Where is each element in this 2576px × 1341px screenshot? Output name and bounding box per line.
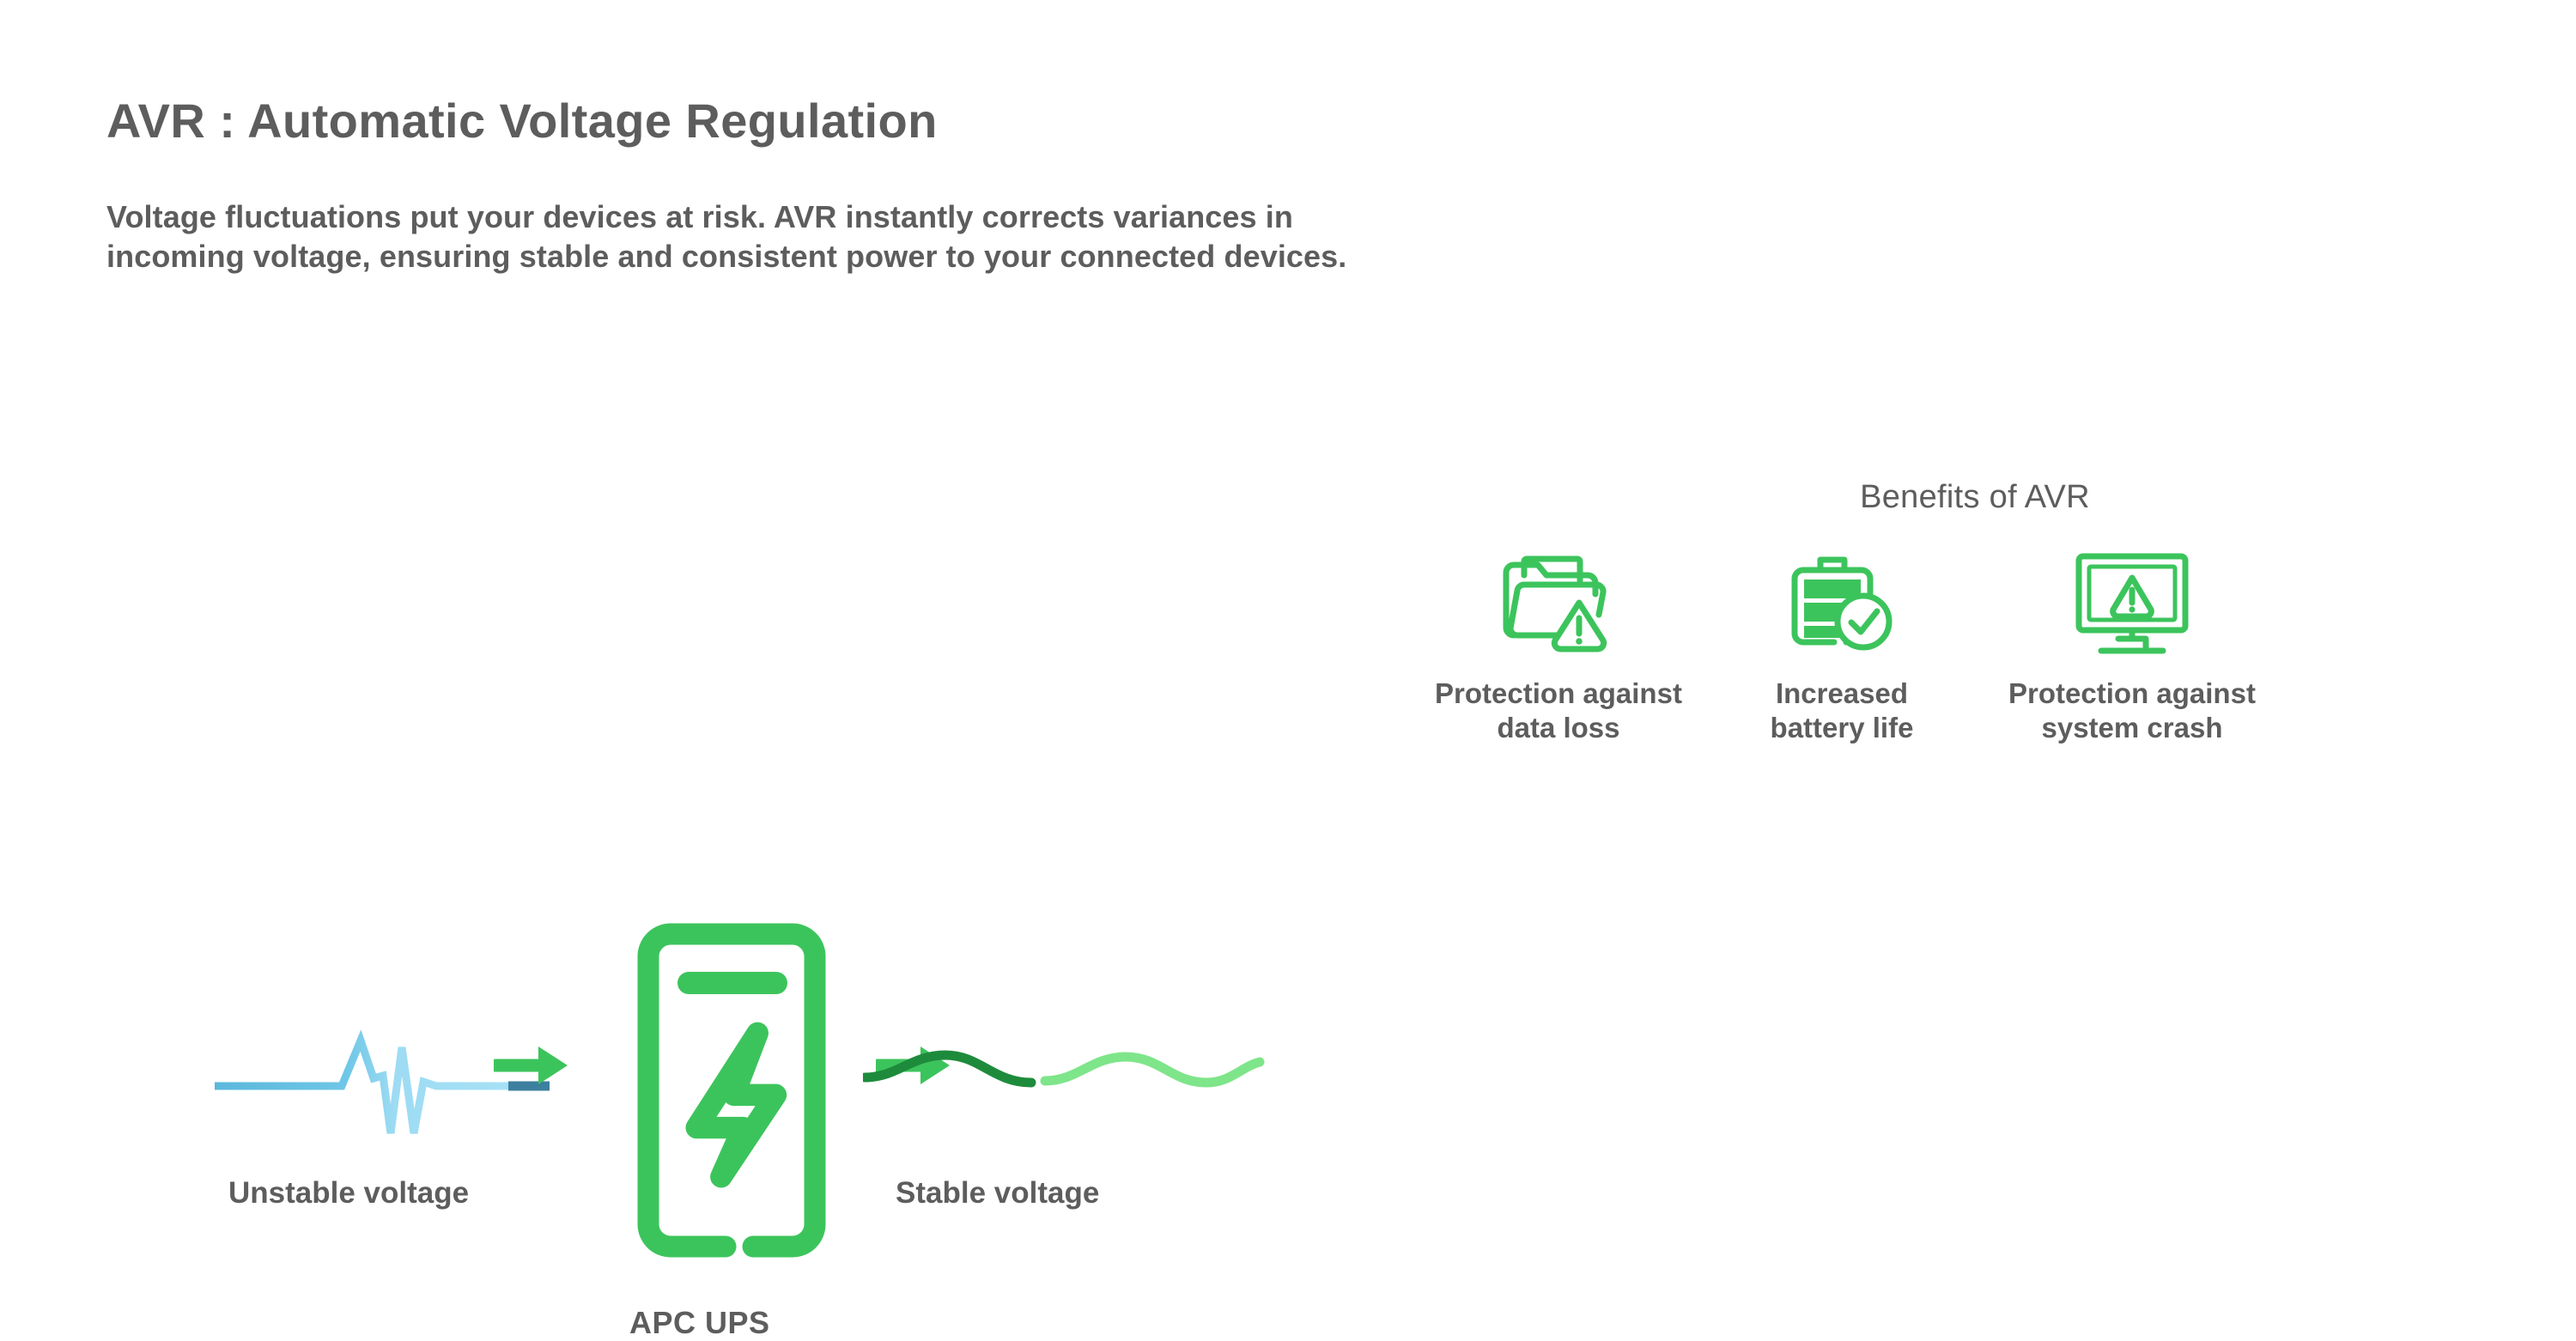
avr-flow-diagram: Unstable voltage Stable voltage APC UPS	[0, 429, 1305, 962]
page-title: AVR : Automatic Voltage Regulation	[106, 93, 938, 149]
benefit-label: Protection against system crash	[2008, 677, 2256, 746]
folder-warning-icon	[1498, 549, 1619, 658]
benefit-item: Protection against system crash	[1990, 549, 2274, 746]
benefits-title: Benefits of AVR	[1417, 479, 2533, 516]
ups-device-icon	[624, 919, 839, 1266]
caption-stable-voltage: Stable voltage	[896, 1176, 1099, 1211]
page-description-line-1: Voltage fluctuations put your devices at…	[106, 197, 1910, 237]
benefit-item: Protection against data loss	[1417, 549, 1700, 746]
arrow-right-icon	[494, 1043, 571, 1092]
benefit-item: Increased battery life	[1700, 549, 1984, 746]
stable-sine-wave-icon	[863, 1035, 1267, 1107]
benefit-label: Protection against data loss	[1435, 677, 1682, 746]
page-description: Voltage fluctuations put your devices at…	[106, 197, 1910, 276]
caption-apc-ups: APC UPS	[629, 1305, 770, 1341]
monitor-warning-icon	[2072, 549, 2192, 658]
benefits-section: Benefits of AVR Incre	[1417, 455, 2533, 859]
benefit-label: Increased battery life	[1771, 677, 1914, 746]
infographic-canvas: AVR : Automatic Voltage Regulation Volta…	[0, 0, 2576, 1056]
battery-check-icon	[1786, 549, 1898, 658]
page-description-line-2: incoming voltage, ensuring stable and co…	[106, 237, 1910, 276]
caption-unstable-voltage: Unstable voltage	[228, 1176, 469, 1211]
